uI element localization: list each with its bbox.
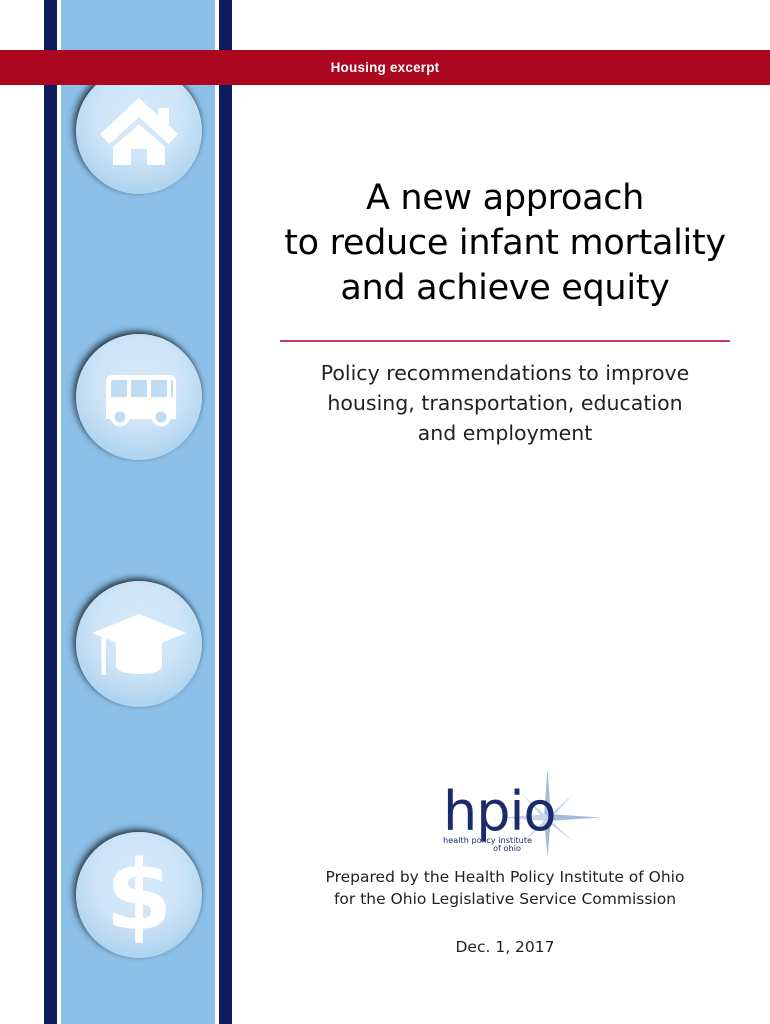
subtitle-line-2: housing, transportation, education <box>266 388 744 418</box>
logo-tagline-line-2: of ohio <box>493 843 521 853</box>
icon-circle-education <box>76 581 202 707</box>
rail-bar-right <box>219 0 232 1024</box>
title-line-3: and achieve equity <box>258 266 752 311</box>
icon-circle-transportation <box>76 334 202 460</box>
publication-date: Dec. 1, 2017 <box>240 936 770 958</box>
housing-excerpt-banner: Housing excerpt <box>0 50 770 85</box>
subtitle-line-3: and employment <box>266 418 744 448</box>
prepared-by-line-2: for the Ohio Legislative Service Commiss… <box>240 888 770 910</box>
prepared-by-line-1: Prepared by the Health Policy Institute … <box>240 866 770 888</box>
svg-text:$: $ <box>106 840 173 952</box>
graduation-cap-icon <box>76 581 202 707</box>
left-icon-rail: $ <box>0 0 240 1024</box>
subtitle-line-1: Policy recommendations to improve <box>266 358 744 388</box>
icon-circle-employment: $ <box>76 832 202 958</box>
page-subtitle: Policy recommendations to improve housin… <box>240 358 770 448</box>
title-divider-rule <box>280 340 730 342</box>
document-cover-page: $ Housing excerpt A new approach to redu… <box>0 0 770 1024</box>
hpio-logo-artwork: hpio health policy institute of ohio <box>423 762 613 858</box>
hpio-logo: hpio health policy institute of ohio <box>423 762 613 858</box>
banner-label: Housing excerpt <box>0 50 770 85</box>
title-block: A new approach to reduce infant mortalit… <box>240 176 770 448</box>
title-line-1: A new approach <box>258 176 752 221</box>
page-title: A new approach to reduce infant mortalit… <box>240 176 770 311</box>
title-line-2: to reduce infant mortality <box>258 221 752 266</box>
dollar-sign-icon: $ <box>76 832 202 958</box>
house-icon <box>76 68 202 194</box>
bus-icon <box>76 334 202 460</box>
logo-wordmark: hpio <box>443 780 556 843</box>
rail-bar-left <box>44 0 57 1024</box>
icon-circle-housing <box>76 68 202 194</box>
footer-block: Prepared by the Health Policy Institute … <box>240 866 770 958</box>
